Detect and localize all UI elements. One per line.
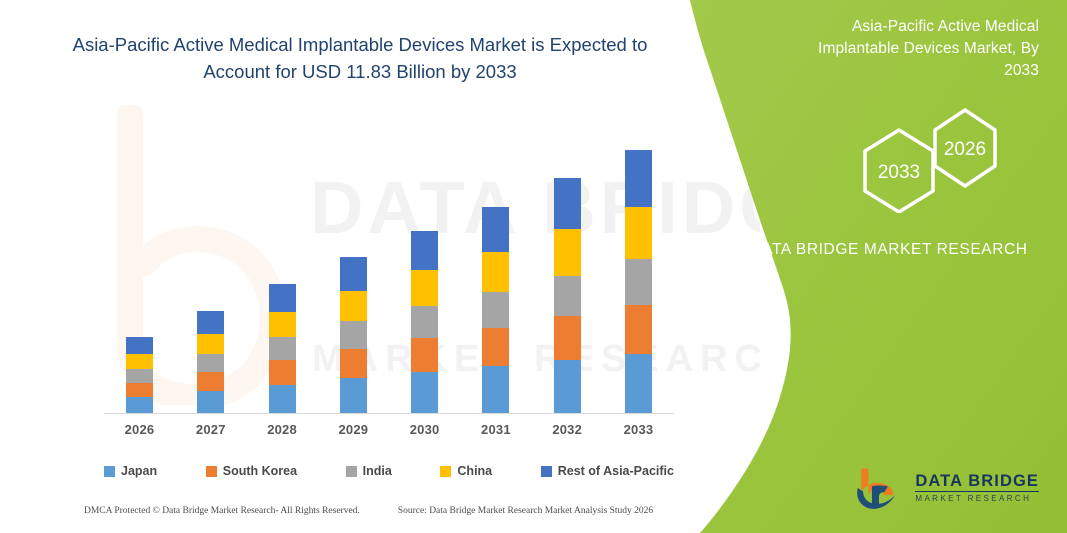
x-axis-label: 2029	[318, 422, 389, 437]
x-axis-line	[104, 413, 674, 414]
x-axis-label: 2026	[104, 422, 175, 437]
bar-segment-china	[269, 312, 296, 337]
stacked-bar	[197, 311, 224, 413]
bar-column	[603, 150, 674, 413]
bar-segment-china	[625, 207, 652, 259]
stacked-bar	[411, 231, 438, 413]
x-axis-label: 2033	[603, 422, 674, 437]
bar-segment-india	[411, 306, 438, 338]
hexagon-2033: 2033	[865, 130, 933, 212]
bar-segment-china	[482, 252, 509, 293]
x-axis-label: 2030	[389, 422, 460, 437]
bar-segment-south-korea	[554, 316, 581, 360]
bar-segment-china	[411, 270, 438, 306]
bar-segment-south-korea	[126, 383, 153, 397]
hexagon-group: 2026 2033	[817, 98, 1032, 213]
bar-segment-india	[625, 259, 652, 304]
footer-copyright: DMCA Protected © Data Bridge Market Rese…	[84, 506, 360, 516]
bar-segment-japan	[269, 385, 296, 413]
panel-brand-text: DATA BRIDGE MARKET RESEARCH	[739, 238, 1039, 263]
bar-segment-china	[126, 354, 153, 369]
bar-segment-china	[197, 334, 224, 354]
legend-label: China	[457, 464, 492, 478]
x-axis-label: 2027	[175, 422, 246, 437]
bar-segment-south-korea	[197, 372, 224, 391]
stacked-bar	[126, 337, 153, 413]
bar-segment-rest-of-asia-pacific	[482, 207, 509, 252]
bar-segment-south-korea	[411, 338, 438, 372]
bar-segment-rest-of-asia-pacific	[340, 257, 367, 291]
panel-title: Asia-Pacific Active Medical Implantable …	[779, 16, 1039, 82]
bar-column	[318, 257, 389, 413]
bar-segment-japan	[197, 391, 224, 413]
bar-segment-china	[554, 229, 581, 275]
legend-label: South Korea	[223, 464, 297, 478]
legend-item-china[interactable]: China	[440, 464, 492, 478]
bar-segment-india	[197, 354, 224, 372]
bar-segment-rest-of-asia-pacific	[411, 231, 438, 271]
bar-segment-japan	[340, 378, 367, 413]
legend-swatch-icon	[206, 466, 217, 477]
x-axis-label: 2031	[460, 422, 531, 437]
bar-column	[247, 284, 318, 413]
legend-label: India	[363, 464, 392, 478]
legend-swatch-icon	[541, 466, 552, 477]
legend-item-japan[interactable]: Japan	[104, 464, 157, 478]
legend-swatch-icon	[104, 466, 115, 477]
bar-segment-india	[269, 337, 296, 360]
legend-item-rest-of-asia-pacific[interactable]: Rest of Asia-Pacific	[541, 464, 674, 478]
bar-segment-rest-of-asia-pacific	[126, 337, 153, 354]
stacked-bar	[554, 178, 581, 413]
legend-item-india[interactable]: India	[346, 464, 392, 478]
bar-segment-india	[554, 276, 581, 316]
x-axis-label: 2028	[247, 422, 318, 437]
stacked-bar	[340, 257, 367, 413]
bar-column	[532, 178, 603, 413]
bar-segment-rest-of-asia-pacific	[554, 178, 581, 229]
bar-segment-japan	[625, 354, 652, 413]
legend-item-south-korea[interactable]: South Korea	[206, 464, 297, 478]
legend-swatch-icon	[440, 466, 451, 477]
bar-segment-rest-of-asia-pacific	[269, 284, 296, 312]
bar-segment-japan	[482, 366, 509, 413]
bar-column	[389, 231, 460, 413]
legend-label: Japan	[121, 464, 157, 478]
bar-column	[460, 207, 531, 413]
hexagon-2026: 2026	[935, 110, 995, 186]
bar-segment-india	[126, 369, 153, 383]
chart-plot-area: 20262027202820292030203120322033	[0, 0, 760, 470]
bar-column	[104, 337, 175, 413]
bar-segment-south-korea	[340, 349, 367, 378]
bar-segment-south-korea	[482, 328, 509, 367]
stacked-bar	[482, 207, 509, 413]
legend-swatch-icon	[346, 466, 357, 477]
brand-logo: DATA BRIDGE MARKET RESEARCH	[852, 465, 1039, 511]
bar-segment-rest-of-asia-pacific	[625, 150, 652, 207]
x-axis-label: 2032	[532, 422, 603, 437]
footer: DMCA Protected © Data Bridge Market Rese…	[0, 506, 700, 516]
bar-segment-india	[482, 292, 509, 328]
logo-line-1: DATA BRIDGE	[915, 473, 1039, 493]
bar-segment-rest-of-asia-pacific	[197, 311, 224, 333]
bar-segment-china	[340, 291, 367, 322]
footer-source: Source: Data Bridge Market Research Mark…	[398, 506, 653, 516]
bar-segment-south-korea	[625, 305, 652, 354]
hexagon-2026-label: 2026	[944, 139, 986, 160]
bar-series-group	[104, 120, 674, 413]
bar-column	[175, 311, 246, 413]
logo-line-2: MARKET RESEARCH	[915, 495, 1039, 503]
x-axis-labels: 20262027202820292030203120322033	[104, 422, 674, 437]
legend-label: Rest of Asia-Pacific	[558, 464, 674, 478]
data-bridge-logo-icon	[852, 465, 906, 511]
bar-segment-japan	[126, 397, 153, 413]
bar-segment-japan	[411, 372, 438, 413]
bar-segment-india	[340, 321, 367, 348]
bar-segment-south-korea	[269, 360, 296, 384]
chart-legend: JapanSouth KoreaIndiaChinaRest of Asia-P…	[104, 464, 674, 478]
hexagon-2033-label: 2033	[878, 162, 920, 183]
bar-segment-japan	[554, 360, 581, 413]
infographic-canvas: DATA BRIDGE MARKET RESEARCH Asia-Pacific…	[0, 0, 1067, 533]
stacked-bar	[625, 150, 652, 413]
stacked-bar	[269, 284, 296, 413]
